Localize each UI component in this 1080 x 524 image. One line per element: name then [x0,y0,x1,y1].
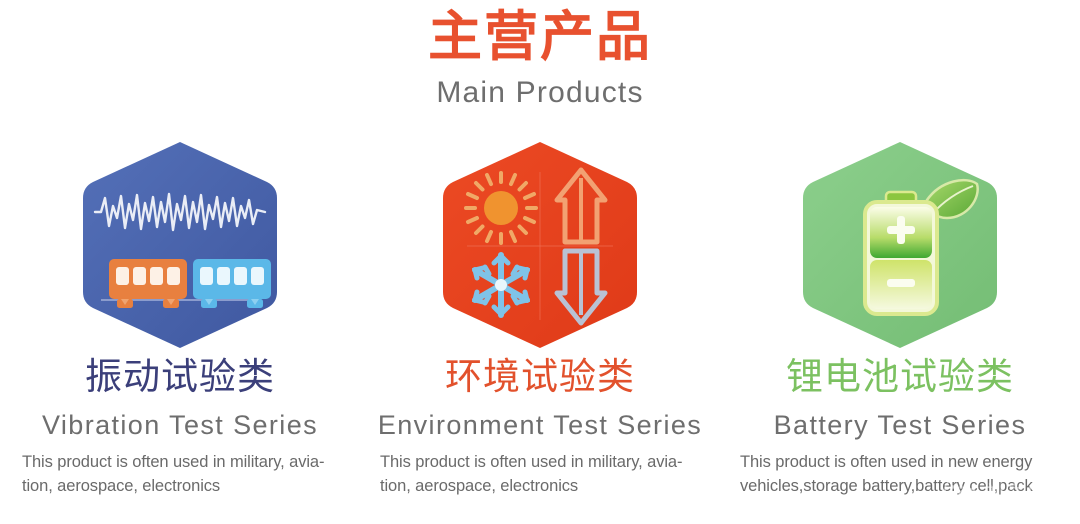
eco-battery-icon [801,140,999,350]
product-card-environment[interactable]: 环境试验类 Environment Test Series This produ… [360,132,720,524]
product-description-vibration: This product is often used in military, … [22,450,340,498]
hex-wrap-environment [360,140,720,352]
product-card-battery[interactable]: 锂电池试验类 Battery Test Series This product … [720,132,1080,524]
product-title-en-battery: Battery Test Series [720,408,1080,442]
product-title-en-environment: Environment Test Series [360,408,720,442]
hex-wrap-vibration [0,140,360,352]
page-header: 主营产品 Main Products [0,6,1080,112]
product-title-cn-vibration: 振动试验类 [0,354,360,400]
product-card-vibration[interactable]: 振动试验类 Vibration Test Series This product… [0,132,360,524]
slide-root: 主营产品 Main Products [0,0,1080,524]
page-title-en: Main Products [0,74,1080,112]
product-columns: 振动试验类 Vibration Test Series This product… [0,132,1080,524]
product-title-cn-battery: 锂电池试验类 [720,354,1080,400]
product-description-environment: This product is often used in military, … [380,450,698,498]
product-description-battery: This product is often used in new energy… [740,450,1060,498]
hex-wrap-battery [720,140,1080,352]
climate-quadrant-icon [441,140,639,350]
train-waveform-icon [81,140,279,350]
product-title-en-vibration: Vibration Test Series [0,408,360,442]
product-title-cn-environment: 环境试验类 [360,354,720,400]
page-title-cn: 主营产品 [0,6,1080,68]
